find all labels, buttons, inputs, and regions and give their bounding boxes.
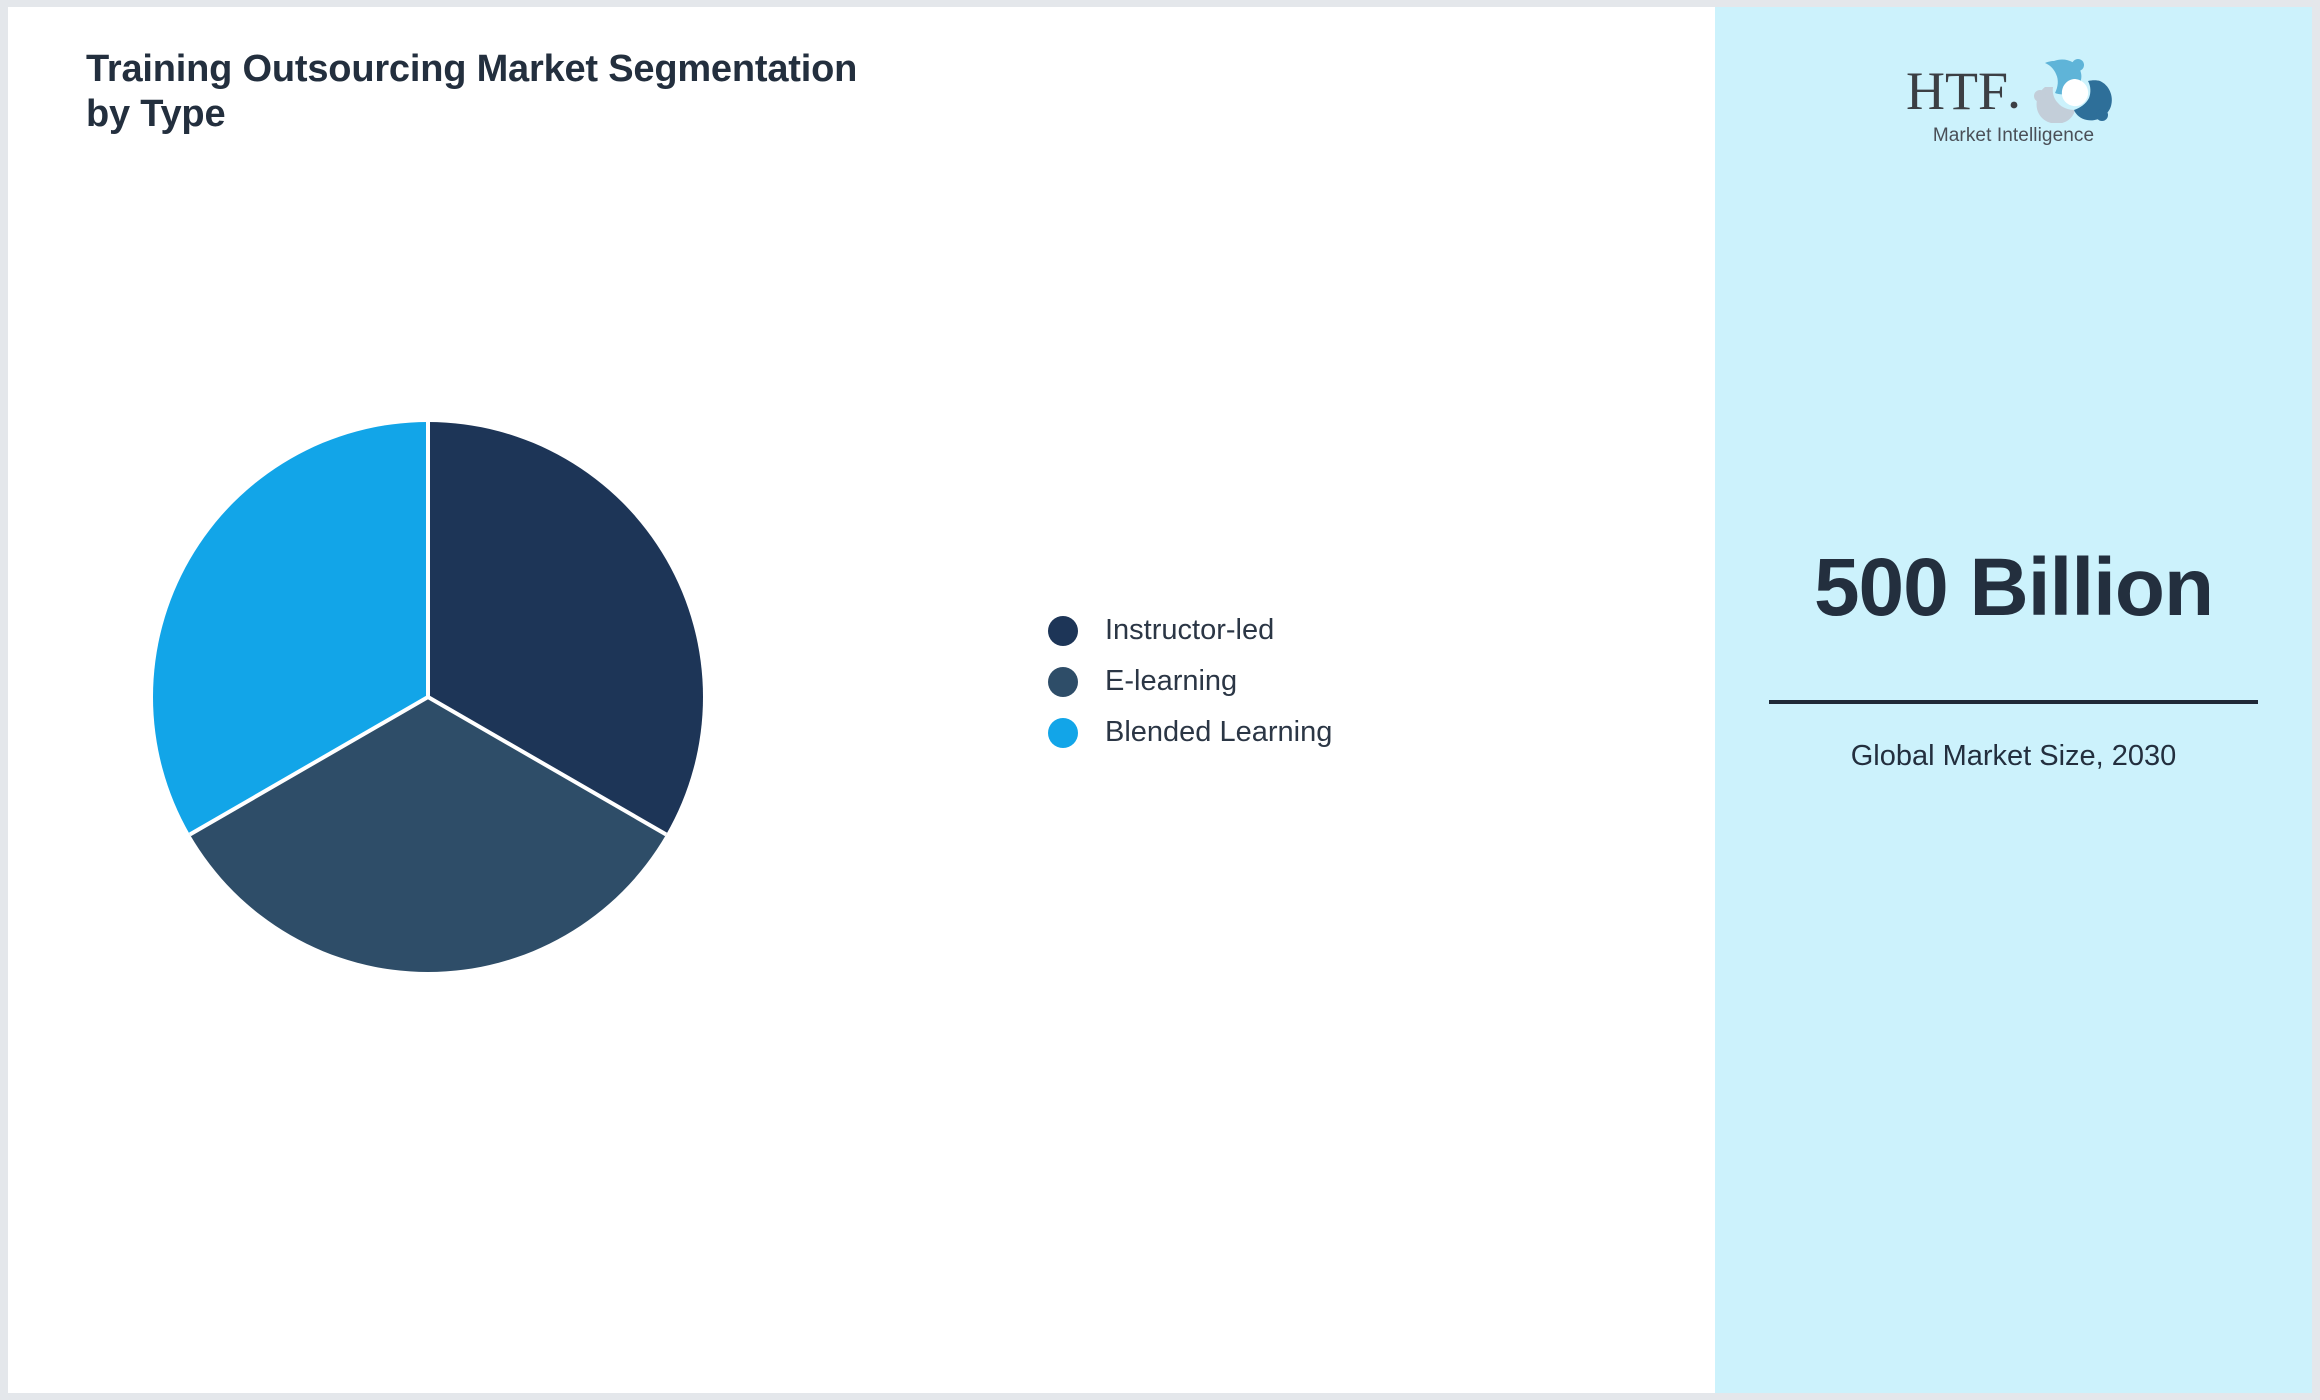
htf-three-figures-logo-icon: HTF bbox=[1904, 55, 2124, 123]
legend-item-label: E-learning bbox=[1105, 665, 1237, 698]
stat-caption: Global Market Size, 2030 bbox=[1769, 738, 2258, 775]
brand-logo[interactable]: HTF Market I bbox=[1904, 55, 2124, 147]
legend-swatch-circle-icon bbox=[1048, 616, 1078, 646]
pie-chart-svg bbox=[148, 417, 708, 977]
legend-item-label: Instructor-led bbox=[1105, 614, 1274, 647]
infographic-card: Training Outsourcing Market Segmentation… bbox=[8, 7, 2312, 1393]
chart-legend: Instructor-led E-learning Blended Learni… bbox=[1048, 605, 1332, 758]
logo-period-icon bbox=[2010, 102, 2017, 109]
legend-item-instructor-led[interactable]: Instructor-led bbox=[1048, 605, 1332, 656]
legend-swatch-circle-icon bbox=[1048, 667, 1078, 697]
page-title: Training Outsourcing Market Segmentation… bbox=[86, 47, 906, 137]
stat-panel: HTF Market I bbox=[1715, 7, 2312, 1393]
logo-wordmark: HTF bbox=[1906, 61, 2008, 121]
legend-swatch-circle-icon bbox=[1048, 718, 1078, 748]
legend-item-label: Blended Learning bbox=[1105, 716, 1332, 749]
chart-panel: Training Outsourcing Market Segmentation… bbox=[8, 7, 1715, 1393]
pie-chart bbox=[148, 417, 708, 977]
stat-block: 500 Billion Global Market Size, 2030 bbox=[1715, 542, 2312, 775]
logo-figures-icon bbox=[2034, 59, 2112, 123]
brand-tagline: Market Intelligence bbox=[1904, 125, 2124, 147]
legend-item-blended-learning[interactable]: Blended Learning bbox=[1048, 707, 1332, 758]
stat-value: 500 Billion bbox=[1769, 542, 2258, 634]
legend-item-e-learning[interactable]: E-learning bbox=[1048, 656, 1332, 707]
stat-divider bbox=[1769, 700, 2258, 704]
